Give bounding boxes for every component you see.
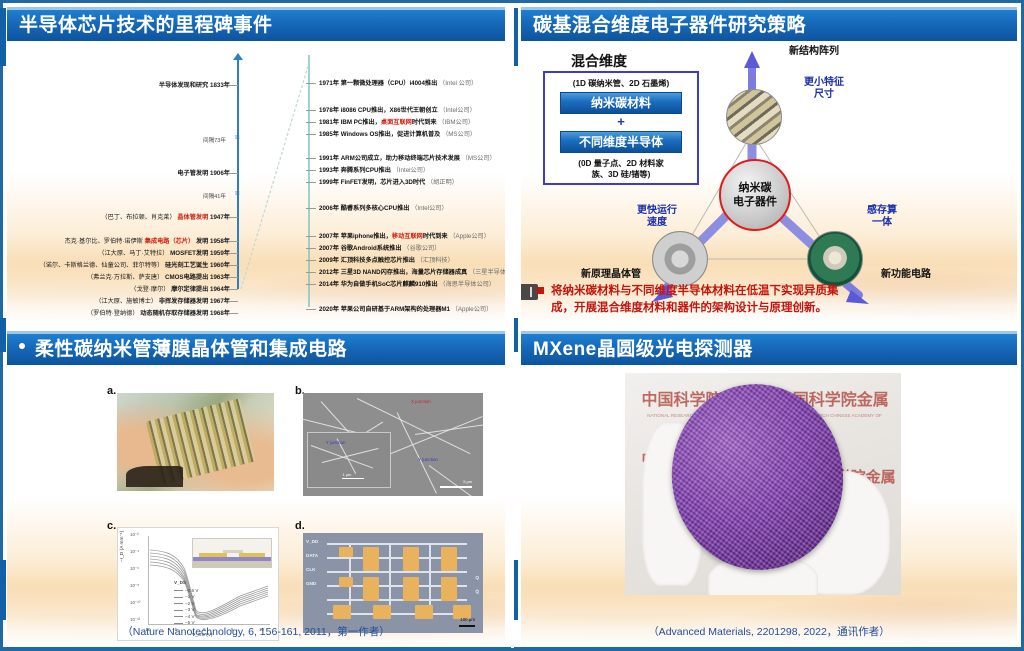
timeline-left-highlight: 晶体管发明 <box>177 214 208 221</box>
timeline-right-org: （IBM公司） <box>438 119 474 126</box>
timeline-right-text: FinFET发明，芯片进入3D时代 <box>341 179 426 186</box>
label-smaller-feature-line1: 更小特征 <box>804 77 844 89</box>
timeline-left-bold: 摩尔定律提出 <box>171 286 208 293</box>
figure-d-label-data: DATA <box>306 553 318 558</box>
timeline-left-text: 半导体发现和研究 <box>159 82 209 89</box>
circuit-pad <box>441 547 457 571</box>
timeline-tick <box>306 309 316 310</box>
chart-legend: V_DS −0.5 V −1 V −2 V −3 V −4 V −5 V <box>174 580 198 627</box>
timeline-tick <box>306 182 316 183</box>
timeline-left-event: （江大原、马丁·艾特拉） MOSFET发明 1959年 <box>98 249 230 258</box>
timeline-gap-mark-icon: = <box>235 190 240 198</box>
timeline-left-event: （罗伯特·登纳德） 动态随机存取存储器发明 1968年 <box>87 309 230 318</box>
legend-line-icon <box>174 616 183 617</box>
center-node-line2: 电子器件 <box>733 195 777 209</box>
chip-multi-dimension-semiconductor: 不同维度半导体 <box>560 131 682 153</box>
label-faster-speed: 更快运行 速度 <box>637 205 677 229</box>
timeline-figure: 半导体发现和研究 1833年 间隔73年 = 电子管发明 1906年 间隔41年… <box>7 41 505 320</box>
strategy-diagram: 混合维度 (1D 碳纳米管、2D 石墨烯) 纳米碳材料 + 不同维度半导体 (0… <box>521 41 1017 320</box>
strategy-bullet-line2: 成，开展混合维度材料和器件的架构设计与原理创新。 <box>551 300 1007 317</box>
panel-flexible-cnt-tft: 柔性碳纳米管薄膜晶体管和集成电路 a. b. c. d. <box>7 331 505 644</box>
timeline-right-org: （三星半导体公司） <box>469 269 505 276</box>
timeline-tick <box>306 134 316 135</box>
bullet-square-icon <box>537 287 544 294</box>
timeline-right-year: 1981年 <box>319 119 339 126</box>
circuit-pad <box>339 577 353 587</box>
scalebar <box>342 478 364 480</box>
timeline-left-year: 1968年 <box>210 310 230 317</box>
circuit-pad <box>363 547 379 571</box>
timeline-left-prefix: （诺尔、卡斯格兰德、仙童公司、菲尔特等） <box>40 262 164 269</box>
timeline-right-text: 三星3D NAND闪存 <box>341 269 393 276</box>
timeline-left-prefix: （罗伯特·登纳德） <box>87 310 139 317</box>
scalebar-label-inset: 1 µm <box>342 472 351 477</box>
panel-semiconductor-milestones: 半导体芯片技术的里程碑事件 半导体发现和研究 1833年 <box>7 7 505 320</box>
timeline-tick <box>306 122 316 123</box>
timeline-right-event: 1993年 奔腾系列CPU推出 （Intel公司） <box>319 166 429 175</box>
timeline-right-event: 1985年 Windows OS推出，促进计算机普及 （MS公司） <box>319 130 476 139</box>
timeline-tick <box>306 83 316 84</box>
circuit-pad <box>339 547 353 557</box>
figure-b-tag-x-junction: X junction <box>411 399 431 404</box>
timeline-right-year: 2007年 <box>319 233 339 240</box>
timeline-left-year: 1959年 <box>210 250 230 257</box>
timeline-right-year: 2007年 <box>319 245 339 252</box>
timeline-left-event: （戈登·摩尔） 摩尔定律提出 1964年 <box>130 285 230 294</box>
timeline-right-event: 2007年 谷歌Android系统推出 （谷歌公司） <box>319 244 440 253</box>
timeline-right-text: IBM PC推出， <box>341 119 381 126</box>
timeline-left-prefix: （江大原、施敏博士） <box>95 298 157 305</box>
timeline-tick <box>228 277 238 278</box>
timeline-right-highlight: 桌面互联网 <box>381 119 412 126</box>
timeline-left-bold: 硅光刻工艺诞生 <box>165 262 208 269</box>
plus-sign-icon: + <box>545 115 697 128</box>
timeline-left-text: 电子管发明 <box>177 170 208 177</box>
timeline-left-bold: 动态随机存取存储器发明 <box>140 310 208 317</box>
dielectric-layer <box>193 557 271 561</box>
panel-research-strategy: 碳基混合维度电子器件研究策略 <box>521 7 1017 320</box>
timeline-tick <box>228 173 238 174</box>
timeline-right-text2: 时代到来 <box>423 233 448 240</box>
figure-d-label-gnd: GND <box>306 581 316 586</box>
timeline-left-year: 1967年 <box>210 298 230 305</box>
circuit-pad <box>403 547 419 571</box>
timeline-tick <box>228 301 238 302</box>
panel-body-top-left: 半导体发现和研究 1833年 间隔73年 = 电子管发明 1906年 间隔41年… <box>7 41 505 320</box>
label-faster-speed-line1: 更快运行 <box>637 205 677 217</box>
timeline-right-text: Windows OS推出，促进计算机普及 <box>341 131 441 138</box>
timeline-tick <box>228 253 238 254</box>
edge-tab-mark <box>0 560 6 620</box>
timeline-tick <box>228 85 238 86</box>
slide-root: 半导体芯片技术的里程碑事件 半导体发现和研究 1833年 <box>0 0 1024 651</box>
timeline-left-year: 1960年 <box>210 262 230 269</box>
center-node-line1: 纳米碳 <box>733 181 777 195</box>
timeline-left-event: （江大原、施敏博士） 非挥发存储器发明 1967年 <box>95 297 230 306</box>
legend-line-icon <box>174 603 183 604</box>
circuit-pad <box>363 577 379 601</box>
timeline-tick <box>228 289 238 290</box>
figure-d-label-clk: CLK <box>306 567 315 572</box>
timeline-left-event: 半导体发现和研究 1833年 <box>159 81 230 90</box>
electrode-left <box>199 553 227 557</box>
chart-legend-title: V_DS <box>174 580 198 587</box>
figure-caption-bottom-right: （Advanced Materials, 2201298, 2022，通讯作者） <box>521 624 1017 639</box>
timeline-right-text: 第一颗微处理器（CPU）i4004推出 <box>341 80 438 87</box>
timeline-tick <box>306 272 316 273</box>
timeline-right-event: 1978年 i8086 CPU推出，X86世代王朝创立 （Intel公司） <box>319 106 476 115</box>
timeline-tick <box>228 265 238 266</box>
edge-tab-mark <box>0 8 6 66</box>
panel-mxene-photodetector: MXene晶圆级光电探测器 中国科学院金属研 中国科学院金属研 中国科学院金属研… <box>521 331 1017 644</box>
timeline-gap-label: 间隔73年 <box>203 136 226 144</box>
box-bottom-note-line2: 族、3D 硅/锗等) <box>545 169 697 180</box>
timeline-left-year: 1964年 <box>210 286 230 293</box>
nanotube-fiber <box>415 424 483 435</box>
timeline-right-org: （Intel 公司） <box>439 80 477 87</box>
timeline-right-text: 奔腾系列CPU推出 <box>341 167 391 174</box>
timeline-right-year: 1999年 <box>319 179 339 186</box>
timeline-right-event: 2020年 苹果公司自研基于ARM架构的处理器M1 （Apple公司） <box>319 305 492 314</box>
circuit-pad <box>333 605 351 619</box>
timeline-right-highlight: 移动互联网 <box>392 233 423 240</box>
timeline-left-event: （诺尔、卡斯格兰德、仙童公司、菲尔特等） 硅光刻工艺诞生 1960年 <box>40 261 230 270</box>
timeline-right-org: （MS公司） <box>442 131 476 138</box>
timeline-right-event: 2006年 酷睿系列多核心CPU推出 （Intel公司） <box>319 204 448 213</box>
figure-b-inset: Y junction 1 µm <box>307 432 392 488</box>
timeline-right-event: 1991年 ARM公司成立，助力移动终端芯片技术发展 （MS公司） <box>319 154 496 163</box>
label-smaller-feature-line2: 尺寸 <box>804 89 844 101</box>
figure-b-sem-image: X junction Y junction Y junction 1 µm 5 … <box>303 393 483 496</box>
timeline-right-text: 酷睿系列多核心CPU推出 <box>341 205 410 212</box>
timeline-right-text: 谷歌Android系统推出 <box>341 245 402 252</box>
electrode-right <box>239 553 265 557</box>
timeline-right-event: 2009年 汇顶科技多点触控芯片推出 （汇顶科技） <box>319 256 454 265</box>
timeline-right-text: ARM公司成立，助力移动终端芯片技术发展 <box>341 155 460 162</box>
figure-wrapper-bottom-right: 中国科学院金属研 中国科学院金属研 中国科学院金属研 中国科学院金属研 中国科学… <box>521 365 1017 644</box>
label-smaller-feature: 更小特征 尺寸 <box>804 77 844 101</box>
timeline-left-prefix: （巴丁、布拉顿、肖克莱） <box>101 214 175 221</box>
label-sense-store-compute: 感存算 一体 <box>867 205 897 229</box>
timeline-right-text: 苹果公司自研基于ARM架构的处理器M1 <box>341 306 450 313</box>
box-bottom-note-line1: (0D 量子点、2D 材料家 <box>545 158 697 169</box>
timeline-right-text: 汇顶科技 <box>341 257 366 264</box>
node-image-transistor <box>652 231 708 287</box>
timeline-left-bold: 非挥发存储器发明 <box>159 298 209 305</box>
timeline-right-bold: 麒麟910 <box>403 281 426 288</box>
timeline-left-year: 1963年 <box>210 274 230 281</box>
timeline-connector <box>239 61 309 286</box>
nanotube-fiber <box>429 465 482 496</box>
timeline-right-org: （海思半导体公司） <box>439 281 495 288</box>
timeline-left-bold: MOSFET发明 <box>170 250 208 257</box>
timeline-right-text2: 推出 <box>403 257 415 264</box>
timeline-left-event: （弗兰克·万拉斯、萨支唐） CMOS电路提出 1963年 <box>87 273 230 282</box>
timeline-left-event: （巴丁、布拉顿、肖克莱） 晶体管发明 1947年 <box>101 213 230 222</box>
timeline-right-org: （Intel公司） <box>439 107 475 114</box>
panel-header-bottom-right: MXene晶圆级光电探测器 <box>521 331 1017 365</box>
label-sense-store-compute-line1: 感存算 <box>867 205 897 217</box>
panel-header-top-right: 碳基混合维度电子器件研究策略 <box>521 7 1017 41</box>
channel-layer <box>223 550 243 553</box>
timeline-tick <box>306 248 316 249</box>
figure-c-device-cross-section-inset <box>192 538 272 568</box>
figure-a-flexible-device-photo <box>117 393 274 491</box>
timeline-right-bold: 多点触控芯片 <box>365 257 402 264</box>
timeline-left-prefix: 杰克·基尔比、罗伯特·诺伊斯 <box>65 238 143 245</box>
figure-caption-bottom-left: （Nature Nanotechnology, 6, 156-161, 2011… <box>7 624 505 639</box>
circuit-pad <box>415 605 433 619</box>
mixed-dimension-box: (1D 碳纳米管、2D 石墨烯) 纳米碳材料 + 不同维度半导体 (0D 量子点… <box>543 71 699 185</box>
strategy-bullet-note: 将纳米碳材料与不同维度半导体材料在低温下实现异质集 成，开展混合维度材料和器件的… <box>551 283 1007 317</box>
timeline-tick <box>228 313 238 314</box>
timeline-right-text2: 时代到来 <box>412 119 437 126</box>
timeline-right-event: 2014年 华为自做手机SoC芯片麒麟910推出 （海思半导体公司） <box>319 280 495 289</box>
timeline-gap-mark-icon: = <box>235 134 240 142</box>
strategy-bullet-line1: 将纳米碳材料与不同维度半导体材料在低温下实现异质集 <box>551 283 1007 300</box>
timeline-right-text: 华为自做手机SoC芯片 <box>341 281 403 288</box>
timeline-left-prefix: （江大原、马丁·艾特拉） <box>98 250 168 257</box>
timeline-right-event: 1971年 第一颗微处理器（CPU）i4004推出 （Intel 公司） <box>319 79 477 88</box>
timeline-left-bold: CMOS电路提出 <box>165 274 208 281</box>
timeline-right-year: 2012年 <box>319 269 339 276</box>
circuit-wire <box>327 571 467 573</box>
panel-gutter <box>511 3 514 648</box>
box-top-note: (1D 碳纳米管、2D 石墨烯) <box>545 78 697 89</box>
timeline-tick <box>228 217 238 218</box>
node-center-nanocarbon-device: 纳米碳 电子器件 <box>719 159 791 231</box>
timeline-tick <box>306 260 316 261</box>
timeline-right-org: （MS公司） <box>462 155 496 162</box>
timeline-right-event: 2007年 苹果iphone推出，移动互联网时代到来 （Apple公司） <box>319 232 490 241</box>
diagram-heading: 混合维度 <box>571 51 627 71</box>
timeline-right-year: 1991年 <box>319 155 339 162</box>
edge-tab-mark <box>0 318 6 352</box>
timeline-right-text: 苹果iphone推出， <box>341 233 392 240</box>
timeline-left-event: 电子管发明 1906年 <box>177 169 230 178</box>
timeline-left-year: 1958年 <box>210 238 230 245</box>
timeline-right-year: 2020年 <box>319 306 339 313</box>
figure-d-label-vdd: V_DD <box>306 539 318 544</box>
scalebar-label-main: 5 µm <box>463 479 472 484</box>
timeline-right-year: 1993年 <box>319 167 339 174</box>
label-new-function-circuit: 新功能电路 <box>881 269 931 281</box>
page-title-top-right: 碳基混合维度电子器件研究策略 <box>533 13 806 39</box>
timeline-left-event: 杰克·基尔比、罗伯特·诺伊斯 集成电路（芯片） 发明 1958年 <box>65 237 230 246</box>
panel-header-top-left: 半导体芯片技术的里程碑事件 <box>7 7 505 41</box>
figure-b-inset-tag: Y junction <box>326 440 346 445</box>
panel-header-bottom-left: 柔性碳纳米管薄膜晶体管和集成电路 <box>7 331 505 365</box>
timeline-right-org: （Apple公司） <box>452 306 493 313</box>
timeline-right-year: 2014年 <box>319 281 339 288</box>
timeline-right-event: 2012年 三星3D NAND闪存推出，海量芯片存储器成真 （三星半导体公司） <box>319 268 505 277</box>
center-node-label: 纳米碳 电子器件 <box>733 181 777 209</box>
timeline-left-year: 1947年 <box>210 214 230 221</box>
timeline-axis-arrow-icon <box>233 53 243 60</box>
timeline-right-org: （汇顶科技） <box>417 257 454 264</box>
timeline-right-year: 1985年 <box>319 131 339 138</box>
node-image-nanotube-array <box>726 89 782 145</box>
timeline-tick <box>306 158 316 159</box>
figure-label-a: a. <box>107 385 116 397</box>
circuit-pad <box>441 577 457 601</box>
legend-line-icon <box>174 597 183 598</box>
scalebar-label-d: 100 µm <box>460 617 475 622</box>
timeline-tick <box>306 284 316 285</box>
timeline-left-year: 1906年 <box>210 170 230 177</box>
timeline-tick <box>228 241 238 242</box>
page-title-bottom-right: MXene晶圆级光电探测器 <box>533 337 753 363</box>
label-sense-store-compute-line2: 一体 <box>867 217 897 229</box>
timeline-right-event: 1999年 FinFET发明，芯片进入3D时代 （胡正明） <box>319 178 458 187</box>
timeline-right-org: （Intel公司） <box>411 205 447 212</box>
timeline-left-suffix: 发明 <box>196 238 208 245</box>
timeline-right-text2: 推出 <box>425 281 437 288</box>
thumb-shadow <box>126 466 183 488</box>
circuit-pad <box>373 605 391 619</box>
label-new-structure-array: 新结构阵列 <box>789 46 839 58</box>
circuit-wire <box>327 543 467 545</box>
node-image-circuit-chip <box>807 231 863 287</box>
timeline-left-prefix: （戈登·摩尔） <box>130 286 169 293</box>
nanotube-fiber <box>396 412 436 493</box>
timeline-tick <box>306 208 316 209</box>
figure-d-label-q: Q <box>475 575 479 580</box>
figure-d-label-qbar: Q̄ <box>475 589 479 594</box>
timeline-tick <box>306 170 316 171</box>
timeline-left-prefix: （弗兰克·万拉斯、萨支唐） <box>87 274 163 281</box>
panel-body-top-right: 混合维度 (1D 碳纳米管、2D 石墨烯) 纳米碳材料 + 不同维度半导体 (0… <box>521 41 1017 320</box>
label-new-principle-transistor: 新原理晶体管 <box>581 269 641 281</box>
timeline-right-year: 2006年 <box>319 205 339 212</box>
timeline-left-year: 1833年 <box>210 82 230 89</box>
circuit-pad <box>403 577 419 601</box>
figure-wafer-photo: 中国科学院金属研 中国科学院金属研 中国科学院金属研 中国科学院金属研 中国科学… <box>625 373 901 595</box>
timeline-tick <box>306 110 316 111</box>
timeline-right-event: 1981年 IBM PC推出，桌面互联网时代到来 （IBM公司） <box>319 118 474 127</box>
scalebar <box>440 486 472 488</box>
figure-label-c: c. <box>107 520 116 532</box>
timeline-right-org: （胡正明） <box>427 179 458 186</box>
figure-grid: a. b. c. d. <box>7 365 505 644</box>
panel-body-bottom-right: 中国科学院金属研 中国科学院金属研 中国科学院金属研 中国科学院金属研 中国科学… <box>521 365 1017 644</box>
timeline-right-text2: 推出，海量芯片存储器成真 <box>393 269 467 276</box>
figure-label-d: d. <box>295 520 305 532</box>
timeline-right-org: （谷歌公司） <box>403 245 440 252</box>
label-faster-speed-line2: 速度 <box>637 217 677 229</box>
figure-b-tag-y-junction: Y junction <box>418 457 438 462</box>
header-bullet-icon <box>19 343 25 349</box>
timeline-right-year: 1971年 <box>319 80 339 87</box>
chip-nanocarbon-material: 纳米碳材料 <box>560 92 682 114</box>
timeline-right-org: （Apple公司） <box>449 233 490 240</box>
page-title-top-left: 半导体芯片技术的里程碑事件 <box>19 13 273 39</box>
timeline-left-highlight: 集成电路（芯片） <box>145 238 195 245</box>
substrate-layer <box>193 561 271 567</box>
timeline-right-year: 1978年 <box>319 107 339 114</box>
page-title-bottom-left: 柔性碳纳米管薄膜晶体管和集成电路 <box>35 337 347 363</box>
legend-line-icon <box>174 590 183 591</box>
figure-d-circuit-micrograph: V_DD DATA CLK GND Q Q̄ <box>303 533 483 633</box>
legend-line-icon <box>174 610 183 611</box>
timeline-gap-label: 间隔41年 <box>203 192 226 200</box>
timeline-tick <box>306 236 316 237</box>
timeline-right-year: 2009年 <box>319 257 339 264</box>
panel-body-bottom-left: a. b. c. d. <box>7 365 505 644</box>
timeline-right-org: （Intel公司） <box>393 167 429 174</box>
timeline-right-text: i8086 CPU推出，X86世代王朝创立 <box>341 107 438 114</box>
